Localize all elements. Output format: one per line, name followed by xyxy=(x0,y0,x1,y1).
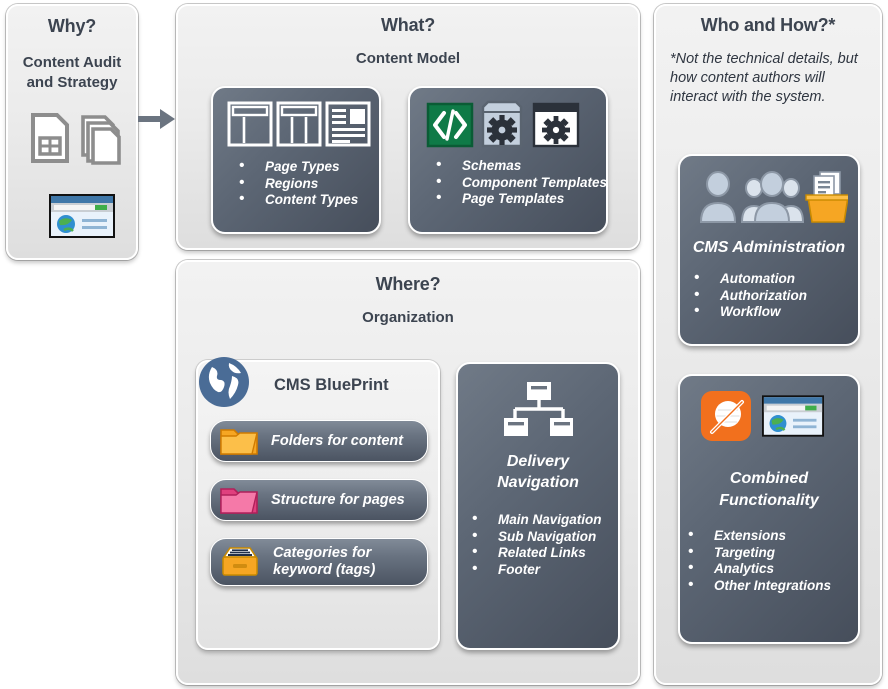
combined-functionality-heading: Combined Functionality xyxy=(680,468,858,512)
list-item: Schemas xyxy=(436,158,606,175)
document-grid-icon xyxy=(33,115,67,161)
combined-icons-group xyxy=(700,390,858,442)
why-title: Why? xyxy=(8,16,136,37)
why-subtitle-line-1: Content Audit xyxy=(8,53,136,73)
user-icon xyxy=(701,172,735,222)
cms-blueprint-heading: CMS BluePrint xyxy=(274,376,389,395)
list-item: Authorization xyxy=(694,288,858,305)
administration-icons-group xyxy=(696,170,858,229)
pill-label-line-1: Categories for xyxy=(273,545,371,561)
why-subtitle-line-2: and Strategy xyxy=(8,73,136,93)
list-item: Analytics xyxy=(688,561,858,578)
heading-line-2: Functionality xyxy=(680,490,858,512)
code-brackets-icon xyxy=(428,104,472,146)
page-layout-article-icon xyxy=(327,103,369,145)
list-item: Extensions xyxy=(688,528,858,545)
pill-label: Structure for pages xyxy=(271,492,405,509)
document-stack-icon xyxy=(83,117,119,163)
cms-blueprint-card[interactable]: CMS BluePrint Folders for content Struct… xyxy=(196,360,440,650)
card-file-box-icon xyxy=(219,543,261,581)
browser-window-icon xyxy=(49,194,115,238)
why-panel: Why? Content Audit and Strategy xyxy=(6,4,138,260)
pill-categories-for-keyword-tags[interactable]: Categories for keyword (tags) xyxy=(210,538,428,586)
why-subtitle: Content Audit and Strategy xyxy=(8,53,136,93)
where-title: Where? xyxy=(178,274,638,295)
orange-planet-icon xyxy=(700,390,752,442)
combined-functionality-list: Extensions Targeting Analytics Other Int… xyxy=(680,528,858,594)
pill-label: Categories for keyword (tags) xyxy=(273,545,375,579)
pill-label: Folders for content xyxy=(271,433,403,450)
page-types-list: Page Types Regions Content Types xyxy=(213,159,379,209)
layout-icons-group xyxy=(227,101,379,147)
podium-documents-icon xyxy=(806,172,848,222)
document-icons-group xyxy=(29,111,121,165)
cms-administration-card[interactable]: CMS Administration Automation Authorizat… xyxy=(678,154,860,346)
cms-administration-list: Automation Authorization Workflow xyxy=(680,271,858,321)
list-item: Related Links xyxy=(472,545,618,562)
list-item: Automation xyxy=(694,271,858,288)
pill-label-line-2: keyword (tags) xyxy=(273,562,375,578)
what-panel: What? Content Model xyxy=(176,4,640,250)
list-item: Workflow xyxy=(694,304,858,321)
delivery-navigation-card[interactable]: Delivery Navigation Main Navigation Sub … xyxy=(456,362,620,650)
page-layout-three-column-icon xyxy=(278,103,320,145)
what-card-page-types[interactable]: Page Types Regions Content Types xyxy=(211,86,381,234)
where-panel: Where? Organization CMS BluePrint Folder… xyxy=(176,260,640,685)
package-gear-icon xyxy=(483,102,521,146)
users-group-icon xyxy=(742,172,803,222)
why-browser-thumb xyxy=(49,194,115,243)
template-icons-group xyxy=(426,99,606,149)
list-item: Component Templates xyxy=(436,175,606,192)
combined-functionality-card[interactable]: Combined Functionality Extensions Target… xyxy=(678,374,860,644)
list-item: Main Navigation xyxy=(472,512,618,529)
window-gear-icon xyxy=(534,104,578,146)
who-and-how-note: *Not the technical details, but how cont… xyxy=(670,50,866,107)
who-and-how-panel: Who and How?* *Not the technical details… xyxy=(654,4,882,685)
folder-orange-icon xyxy=(219,425,259,457)
browser-window-icon xyxy=(762,395,824,437)
what-subtitle: Content Model xyxy=(178,50,638,67)
page-layout-two-column-icon xyxy=(229,103,271,145)
where-subtitle: Organization xyxy=(178,309,638,326)
list-item: Regions xyxy=(239,176,379,193)
org-chart-icon xyxy=(458,380,618,447)
heading-line-1: Combined xyxy=(680,468,858,490)
list-item: Sub Navigation xyxy=(472,529,618,546)
what-title: What? xyxy=(178,15,638,36)
templates-list: Schemas Component Templates Page Templat… xyxy=(410,158,606,208)
list-item: Footer xyxy=(472,562,618,579)
list-item: Targeting xyxy=(688,545,858,562)
folder-pink-icon xyxy=(219,484,259,516)
delivery-navigation-list: Main Navigation Sub Navigation Related L… xyxy=(458,512,618,578)
who-and-how-title: Who and How?* xyxy=(656,15,880,36)
list-item: Page Templates xyxy=(436,191,606,208)
what-card-templates[interactable]: Schemas Component Templates Page Templat… xyxy=(408,86,608,234)
pill-structure-for-pages[interactable]: Structure for pages xyxy=(210,479,428,521)
heading-line-2: Navigation xyxy=(458,472,618,493)
list-item: Other Integrations xyxy=(688,578,858,595)
list-item: Content Types xyxy=(239,192,379,209)
why-icon-row xyxy=(29,111,121,170)
arrow-right-icon xyxy=(138,108,176,135)
pill-folders-for-content[interactable]: Folders for content xyxy=(210,420,428,462)
heading-line-1: Delivery xyxy=(458,451,618,472)
delivery-navigation-heading: Delivery Navigation xyxy=(458,451,618,493)
cms-administration-heading: CMS Administration xyxy=(680,239,858,257)
globe-icon xyxy=(196,354,252,415)
list-item: Page Types xyxy=(239,159,379,176)
